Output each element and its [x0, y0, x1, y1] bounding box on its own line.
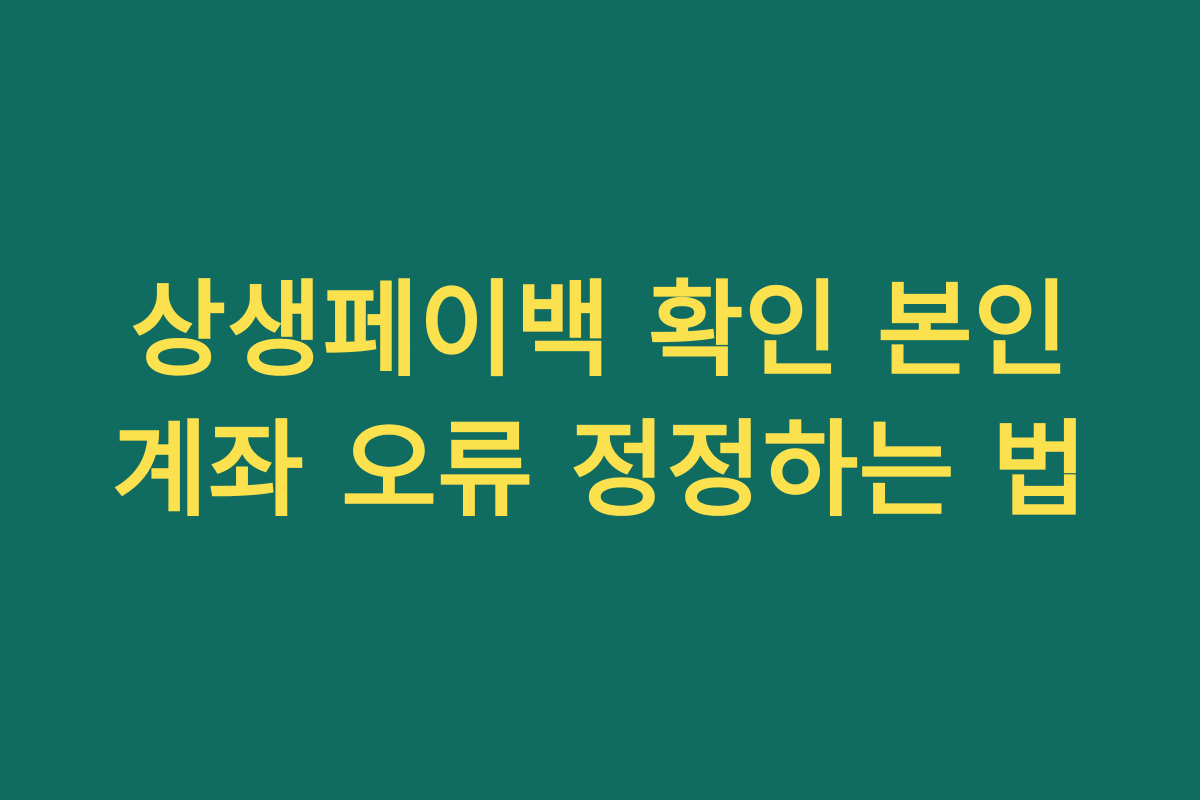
- banner-headline: 상생페이백 확인 본인 계좌 오류 정정하는 법: [80, 260, 1120, 541]
- banner-canvas: 상생페이백 확인 본인 계좌 오류 정정하는 법: [0, 0, 1200, 800]
